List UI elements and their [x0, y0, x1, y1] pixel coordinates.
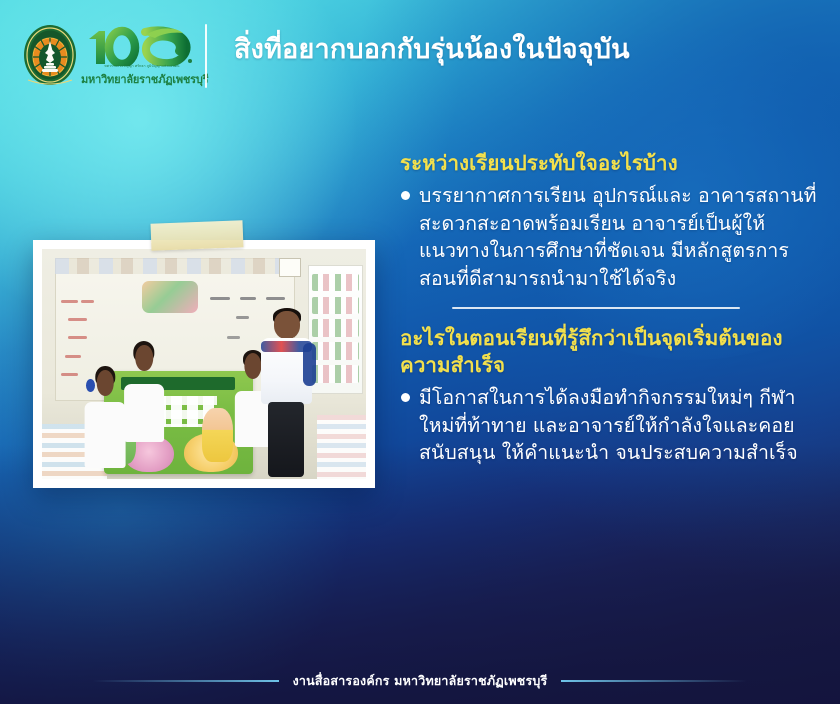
footer-bar: งานสื่อสารองค์กร มหาวิทยาลัยราชภัฏเพชรบุ…: [0, 658, 840, 704]
hundred-years-icon: [83, 26, 195, 66]
footer-rule-right: [561, 680, 747, 682]
logo-motto: ทศวรรษแห่งปัญญา ศรัทธา ภูมิปัญญาแห่งแผ่น…: [89, 64, 195, 69]
footer-rule-left: [93, 680, 279, 682]
section-1-heading: ระหว่างเรียนประทับใจอะไรบ้าง: [400, 150, 820, 177]
section-1: ระหว่างเรียนประทับใจอะไรบ้าง บรรยากาศการ…: [400, 150, 820, 293]
section-2-heading: อะไรในตอนเรียนที่รู้สึกว่าเป็นจุดเริ่มต้…: [400, 325, 820, 379]
masking-tape-icon: [151, 220, 244, 251]
logo-university-name: มหาวิทยาลัยราชภัฏเพชรบุรี: [81, 70, 197, 88]
bullet-dot-icon: [401, 393, 410, 402]
section-1-bullet-1: บรรยากาศการเรียน อุปกรณ์และ อาคารสถานที่…: [400, 182, 820, 293]
classroom-photo-card: [33, 240, 375, 488]
section-2-bullet-1-text: มีโอกาสในการได้ลงมือทำกิจกรรมใหม่ๆ กีฬาใ…: [419, 384, 820, 467]
infographic-canvas: ทศวรรษแห่งปัญญา ศรัทธา ภูมิปัญญาแห่งแผ่น…: [0, 0, 840, 704]
pbru-seal-icon: [22, 24, 78, 86]
section-1-bullet-1-text: บรรยากาศการเรียน อุปกรณ์และ อาคารสถานที่…: [419, 182, 820, 293]
bullet-dot-icon: [401, 191, 410, 200]
page-title: สิ่งที่อยากบอกกับรุ่นน้องในปัจจุบัน: [234, 34, 630, 66]
section-divider: [452, 307, 740, 309]
header-vertical-divider: [205, 24, 207, 88]
section-2-bullet-1: มีโอกาสในการได้ลงมือทำกิจกรรมใหม่ๆ กีฬาใ…: [400, 384, 820, 467]
content-column: ระหว่างเรียนประทับใจอะไรบ้าง บรรยากาศการ…: [400, 150, 820, 467]
university-logo: ทศวรรษแห่งปัญญา ศรัทธา ภูมิปัญญาแห่งแผ่น…: [22, 22, 187, 88]
anniversary-wordmark: ทศวรรษแห่งปัญญา ศรัทธา ภูมิปัญญาแห่งแผ่น…: [83, 24, 195, 86]
classroom-photo: [42, 249, 366, 479]
header-bar: ทศวรรษแห่งปัญญา ศรัทธา ภูมิปัญญาแห่งแผ่น…: [0, 0, 840, 108]
footer-credit: งานสื่อสารองค์กร มหาวิทยาลัยราชภัฏเพชรบุ…: [293, 671, 548, 691]
section-2: อะไรในตอนเรียนที่รู้สึกว่าเป็นจุดเริ่มต้…: [400, 325, 820, 467]
